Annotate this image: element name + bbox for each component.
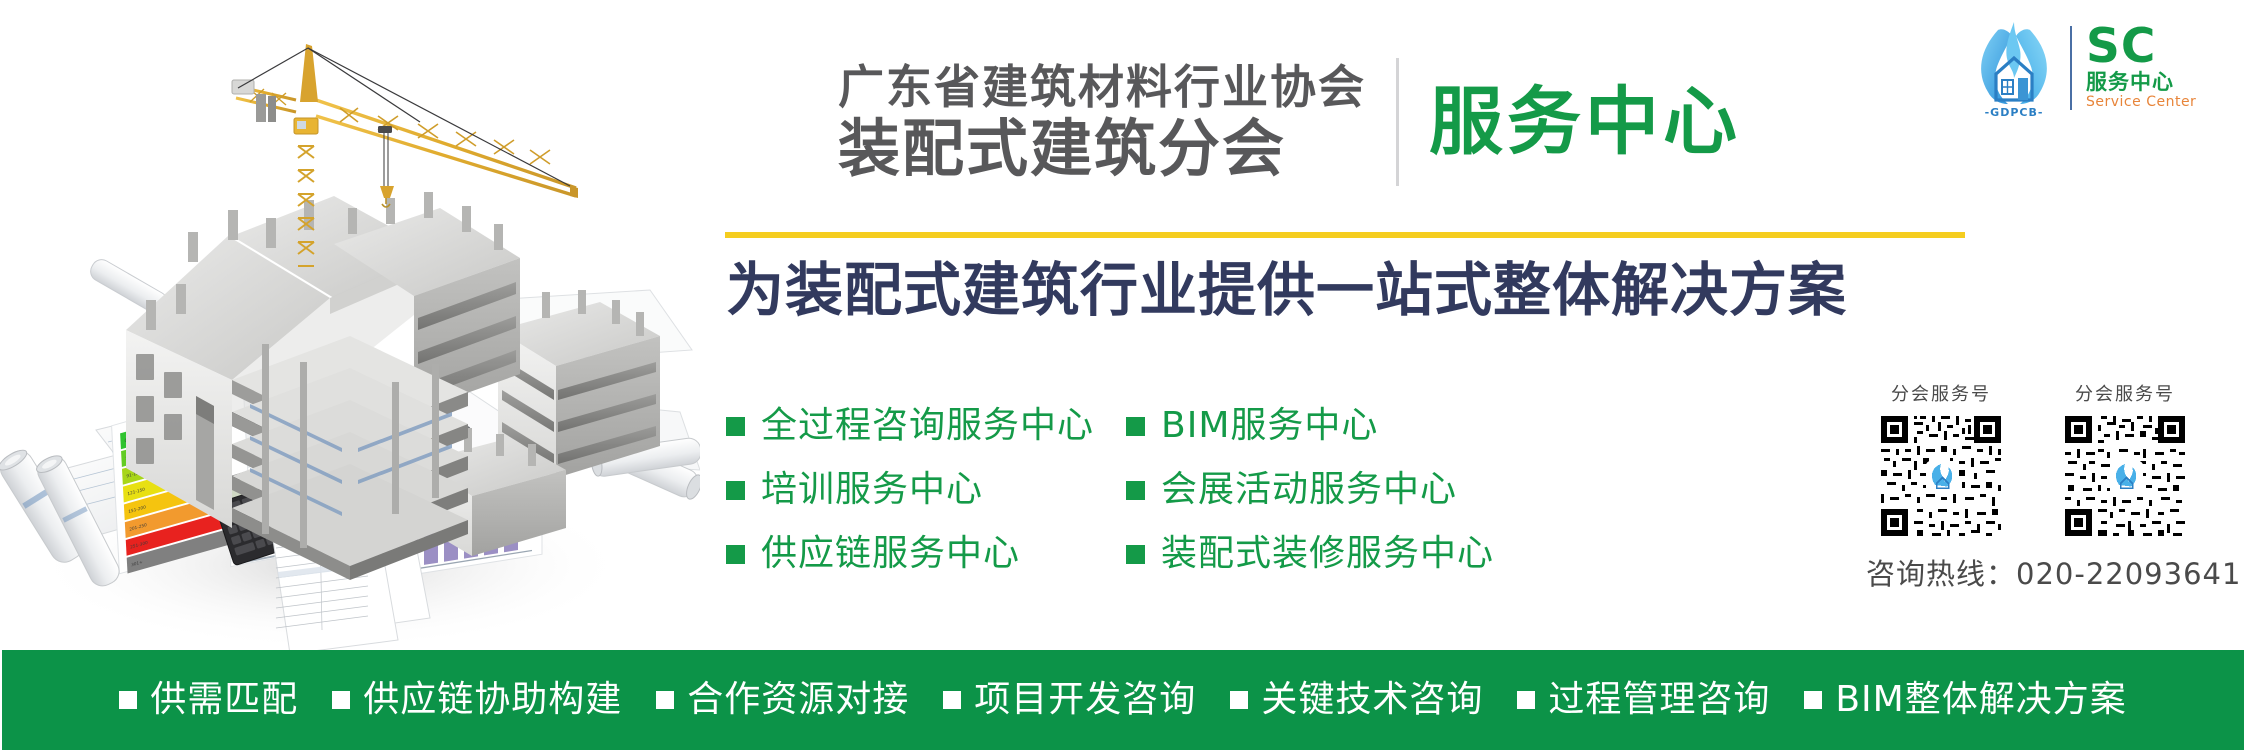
qr-caption: 分会服务号 <box>1891 380 1991 406</box>
service-item-label: BIM服务中心 <box>1161 408 1378 444</box>
svg-text:-GDPCB-: -GDPCB- <box>1985 106 2044 119</box>
hotline-text: 咨询热线：020-22093641 <box>1866 551 2226 593</box>
service-center-heading: 服务中心 <box>1429 85 1741 159</box>
square-bullet-icon <box>656 691 674 709</box>
bottom-services-bar: 供需匹配 供应链协助构建 合作资源对接 项目开发咨询 关键技术咨询 过程管理咨询 <box>2 650 2244 750</box>
square-bullet-icon <box>119 691 137 709</box>
service-item-label: 装配式装修服务中心 <box>1161 536 1494 572</box>
bottom-item-label: BIM整体解决方案 <box>1835 682 2126 718</box>
bottom-item-supply-demand-matching[interactable]: 供需匹配 <box>119 682 298 718</box>
square-bullet-icon <box>1126 481 1145 500</box>
square-bullet-icon <box>726 417 745 436</box>
service-item-supply-chain[interactable]: 供应链服务中心 <box>726 536 1126 572</box>
square-bullet-icon <box>943 691 961 709</box>
sc-chinese-label: 服务中心 <box>2086 70 2174 94</box>
bottom-item-label: 关键技术咨询 <box>1261 682 1483 718</box>
brand-logo-block[interactable]: -GDPCB- SC 服务中心 Service Center <box>1968 14 2230 122</box>
service-column-right: BIM服务中心 会展活动服务中心 装配式装修服务中心 <box>1126 408 1526 572</box>
service-item-bim[interactable]: BIM服务中心 <box>1126 408 1526 444</box>
bottom-item-label: 过程管理咨询 <box>1548 682 1770 718</box>
bottom-items-row: 供需匹配 供应链协助构建 合作资源对接 项目开发咨询 关键技术咨询 过程管理咨询 <box>119 682 2126 718</box>
bottom-item-label: 项目开发咨询 <box>974 682 1196 718</box>
association-name-line2: 装配式建筑分会 <box>838 117 1366 180</box>
square-bullet-icon <box>1517 691 1535 709</box>
bottom-item-project-development-consulting[interactable]: 项目开发咨询 <box>943 682 1196 718</box>
service-item-training[interactable]: 培训服务中心 <box>726 472 1126 508</box>
qr-caption: 分会服务号 <box>2075 380 2175 406</box>
service-center-list: 全过程咨询服务中心 培训服务中心 供应链服务中心 BIM服务中心 会展活动服务中… <box>726 408 1846 572</box>
logo-vertical-divider <box>2070 26 2072 110</box>
bottom-item-key-technology-consulting[interactable]: 关键技术咨询 <box>1230 682 1483 718</box>
bottom-item-process-management-consulting[interactable]: 过程管理咨询 <box>1517 682 1770 718</box>
title-vertical-divider <box>1396 58 1399 186</box>
square-bullet-icon <box>726 481 745 500</box>
service-item-prefab-decoration[interactable]: 装配式装修服务中心 <box>1126 536 1526 572</box>
association-name-line1: 广东省建筑材料行业协会 <box>838 64 1366 111</box>
gdpcb-house-flame-icon: -GDPCB- <box>1968 16 2060 120</box>
sc-wordmark: SC 服务中心 Service Center <box>2086 25 2196 111</box>
qr-code-cell-1[interactable]: 分会服务号 <box>1866 380 2016 539</box>
contact-qr-block: 分会服务号 <box>1866 380 2226 593</box>
qr-code-icon[interactable] <box>2062 413 2188 539</box>
bottom-item-label: 供应链协助构建 <box>363 682 622 718</box>
sc-english-label: Service Center <box>2086 95 2196 110</box>
service-item-exhibition-events[interactable]: 会展活动服务中心 <box>1126 472 1526 508</box>
square-bullet-icon <box>726 545 745 564</box>
banner-root: ABC DEF GH 0-5051-9091-120 121-150151-20… <box>0 0 2246 752</box>
construction-site-3d-render: ABC DEF GH 0-5051-9091-120 121-150151-20… <box>0 0 700 660</box>
bottom-item-supply-chain-build[interactable]: 供应链协助构建 <box>332 682 622 718</box>
bottom-item-label: 合作资源对接 <box>687 682 909 718</box>
square-bullet-icon <box>332 691 350 709</box>
service-column-left: 全过程咨询服务中心 培训服务中心 供应链服务中心 <box>726 408 1126 572</box>
qr-code-cell-2[interactable]: 分会服务号 <box>2050 380 2200 539</box>
header-title-block: 广东省建筑材料行业协会 装配式建筑分会 服务中心 <box>838 42 1741 202</box>
qr-code-row: 分会服务号 <box>1866 380 2226 539</box>
qr-code-icon[interactable] <box>1878 413 2004 539</box>
square-bullet-icon <box>1126 417 1145 436</box>
square-bullet-icon <box>1804 691 1822 709</box>
service-item-label: 培训服务中心 <box>761 472 983 508</box>
bottom-item-bim-total-solution[interactable]: BIM整体解决方案 <box>1804 682 2126 718</box>
square-bullet-icon <box>1126 545 1145 564</box>
square-bullet-icon <box>1230 691 1248 709</box>
service-item-label: 供应链服务中心 <box>761 536 1020 572</box>
service-item-label: 会展活动服务中心 <box>1161 472 1457 508</box>
service-item-label: 全过程咨询服务中心 <box>761 408 1094 444</box>
sc-letters: SC <box>2086 25 2156 68</box>
bottom-item-label: 供需匹配 <box>150 682 298 718</box>
page-subtitle: 为装配式建筑行业提供一站式整体解决方案 <box>726 258 1986 323</box>
association-name: 广东省建筑材料行业协会 装配式建筑分会 <box>838 64 1366 180</box>
service-item-full-process-consulting[interactable]: 全过程咨询服务中心 <box>726 408 1126 444</box>
yellow-divider-rule <box>725 232 1965 238</box>
bottom-item-partner-resource-matching[interactable]: 合作资源对接 <box>656 682 909 718</box>
